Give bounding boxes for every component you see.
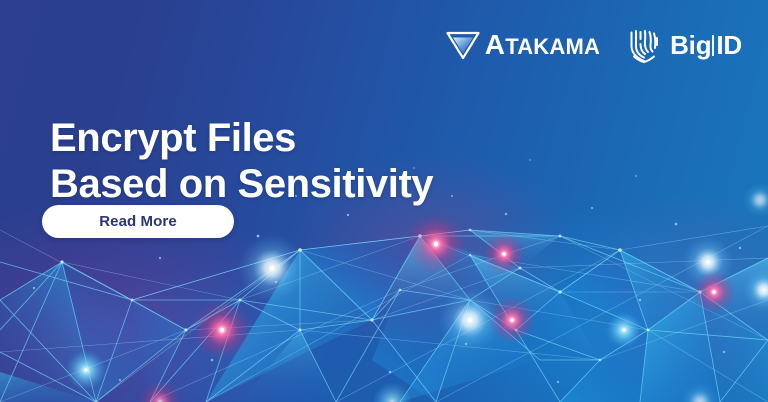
bigid-divider-bar — [712, 35, 714, 56]
bigid-word-second: ID — [716, 32, 742, 58]
promo-banner: ATAKAMA BigID Encrypt Files — [0, 0, 768, 402]
bigid-fingerprint-shield-icon — [626, 26, 662, 64]
atakama-logo: ATAKAMA — [446, 30, 600, 60]
bigid-word-first: Big — [670, 32, 711, 58]
atakama-word-rest: TAKAMA — [505, 34, 600, 59]
polygon-facets — [0, 230, 768, 402]
atakama-wordmark: ATAKAMA — [485, 31, 600, 59]
headline-line-1: Encrypt Files — [50, 115, 433, 161]
headline-line-2: Based on Sensitivity — [50, 161, 433, 207]
network-edges — [0, 230, 768, 402]
network-edges-faint — [0, 226, 768, 402]
bigid-wordmark: BigID — [670, 32, 742, 58]
atakama-triangle-icon — [446, 30, 480, 60]
partner-logo-row: ATAKAMA BigID — [446, 26, 742, 64]
atakama-word-lead: A — [485, 29, 505, 60]
read-more-button[interactable]: Read More — [42, 205, 234, 238]
bigid-logo: BigID — [626, 26, 742, 64]
headline: Encrypt Files Based on Sensitivity — [50, 115, 433, 208]
